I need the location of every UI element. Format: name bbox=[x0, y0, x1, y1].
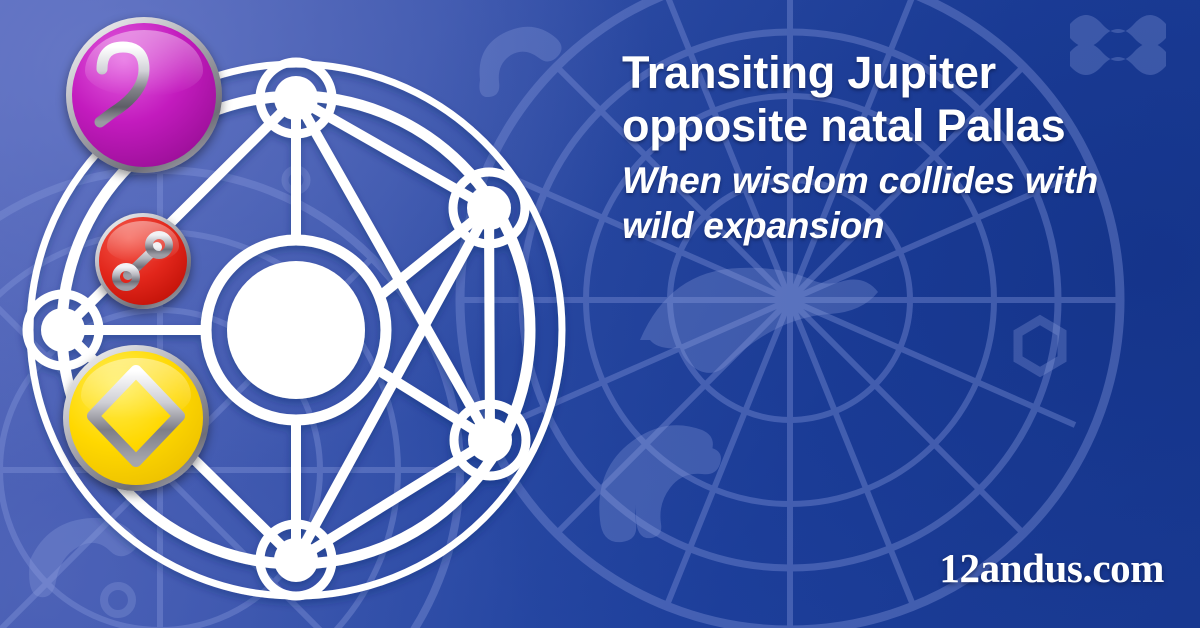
jupiter-badge bbox=[66, 17, 222, 173]
pallas-badge bbox=[63, 345, 209, 491]
share-card: Transiting Jupiteropposite natal Pallas … bbox=[0, 0, 1200, 628]
headline-block: Transiting Jupiteropposite natal Pallas … bbox=[622, 46, 1170, 248]
brand-wordmark[interactable]: 12andus.com bbox=[939, 544, 1164, 592]
page-title: Transiting Jupiteropposite natal Pallas bbox=[622, 46, 1170, 152]
subtitle-line-1: When wisdom collides with bbox=[622, 160, 1098, 201]
jupiter-glyph bbox=[66, 17, 222, 173]
opposition-badge bbox=[95, 213, 191, 309]
taurus-figure bbox=[640, 268, 878, 373]
hexagon-motif bbox=[1018, 320, 1062, 372]
hub-circle bbox=[206, 240, 386, 420]
aries-figure-2 bbox=[636, 445, 721, 538]
pallas-glyph bbox=[63, 345, 209, 491]
opposition-glyph bbox=[95, 213, 191, 309]
subtitle-line-2: wild expansion bbox=[622, 205, 884, 246]
title-line-1: Transiting Jupiter bbox=[622, 47, 996, 98]
title-line-2: opposite natal Pallas bbox=[622, 100, 1065, 151]
aquarius-figure bbox=[1070, 15, 1166, 47]
page-subtitle: When wisdom collides withwild expansion bbox=[622, 158, 1170, 248]
